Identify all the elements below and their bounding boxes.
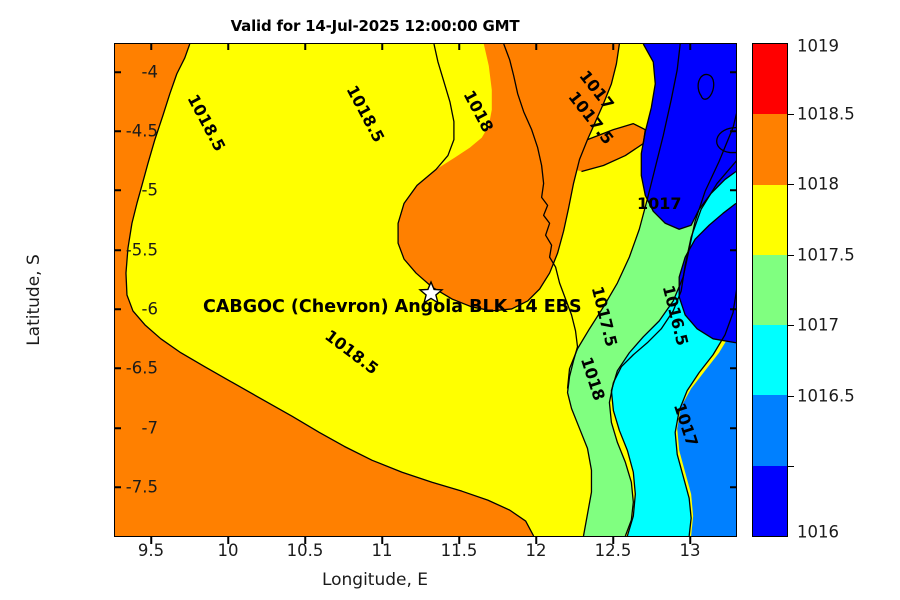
- y-tick-mark-right: [730, 249, 737, 251]
- colorbar-band-1018-5: [753, 114, 787, 184]
- y-tick-mark-right: [730, 308, 737, 310]
- colorbar-tick: [788, 396, 794, 397]
- x-tick-mark: [535, 537, 537, 544]
- y-tick-label: -5.5: [88, 241, 158, 260]
- y-tick-mark: [114, 71, 121, 73]
- colorbar-tick-label: 1016: [797, 523, 839, 542]
- figure-title: Valid for 14-Jul-2025 12:00:00 GMT: [0, 17, 750, 35]
- y-tick-label: -7: [88, 419, 158, 438]
- station-label: CABGOC (Chevron) Angola BLK 14 EBS: [203, 297, 582, 317]
- x-tick-mark-top: [381, 43, 383, 50]
- colorbar-tick-label: 1017.5: [797, 246, 855, 265]
- x-tick-mark: [381, 537, 383, 544]
- x-tick-mark-top: [227, 43, 229, 50]
- colorbar-band-1016: [753, 466, 787, 536]
- y-tick-label: -4.5: [88, 122, 158, 141]
- y-tick-mark-right: [730, 71, 737, 73]
- x-tick-mark: [612, 537, 614, 544]
- y-tick-mark: [114, 189, 121, 191]
- y-tick-mark-right: [730, 486, 737, 488]
- x-tick-mark: [227, 537, 229, 544]
- colorbar-tick-label: 1018: [797, 175, 839, 194]
- contour-label: 1017: [637, 194, 682, 213]
- y-tick-mark-right: [730, 189, 737, 191]
- y-tick-label: -7.5: [88, 478, 158, 497]
- x-tick-mark-top: [689, 43, 691, 50]
- y-tick-mark: [114, 486, 121, 488]
- colorbar-tick: [788, 184, 794, 185]
- colorbar-tick-label: 1019: [797, 37, 839, 56]
- colorbar: [752, 43, 788, 537]
- y-axis-title: Latitude, S: [24, 150, 44, 450]
- colorbar-band-1017-5: [753, 255, 787, 325]
- x-axis-title: Longitude, E: [0, 570, 750, 590]
- y-tick-mark: [114, 249, 121, 251]
- x-tick-mark-top: [458, 43, 460, 50]
- y-tick-mark-right: [730, 130, 737, 132]
- y-tick-mark: [114, 367, 121, 369]
- colorbar-tick: [788, 466, 794, 467]
- colorbar-tick-label: 1016.5: [797, 387, 855, 406]
- x-tick-mark-top: [304, 43, 306, 50]
- y-tick-label: -4: [88, 63, 158, 82]
- x-tick-mark-top: [612, 43, 614, 50]
- y-tick-label: -6: [88, 300, 158, 319]
- colorbar-band-1017: [753, 325, 787, 395]
- pressure-map-figure: Valid for 14-Jul-2025 12:00:00 GMT: [0, 0, 900, 600]
- x-tick-mark: [304, 537, 306, 544]
- colorbar-band-1018: [753, 185, 787, 255]
- x-tick-mark-top: [150, 43, 152, 50]
- x-tick-mark: [150, 537, 152, 544]
- x-tick-mark-top: [535, 43, 537, 50]
- x-tick-mark: [689, 537, 691, 544]
- colorbar-band-1019: [753, 44, 787, 114]
- colorbar-tick: [788, 255, 794, 256]
- y-tick-mark: [114, 427, 121, 429]
- colorbar-band-1016-5: [753, 395, 787, 465]
- y-tick-mark-right: [730, 427, 737, 429]
- y-tick-mark: [114, 308, 121, 310]
- colorbar-tick: [788, 325, 794, 326]
- y-tick-label: -5: [88, 181, 158, 200]
- colorbar-tick: [788, 114, 794, 115]
- colorbar-tick-label: 1017: [797, 316, 839, 335]
- colorbar-tick-label: 1018.5: [797, 105, 855, 124]
- y-tick-mark-right: [730, 367, 737, 369]
- y-tick-mark: [114, 130, 121, 132]
- x-tick-mark: [458, 537, 460, 544]
- y-tick-label: -6.5: [88, 359, 158, 378]
